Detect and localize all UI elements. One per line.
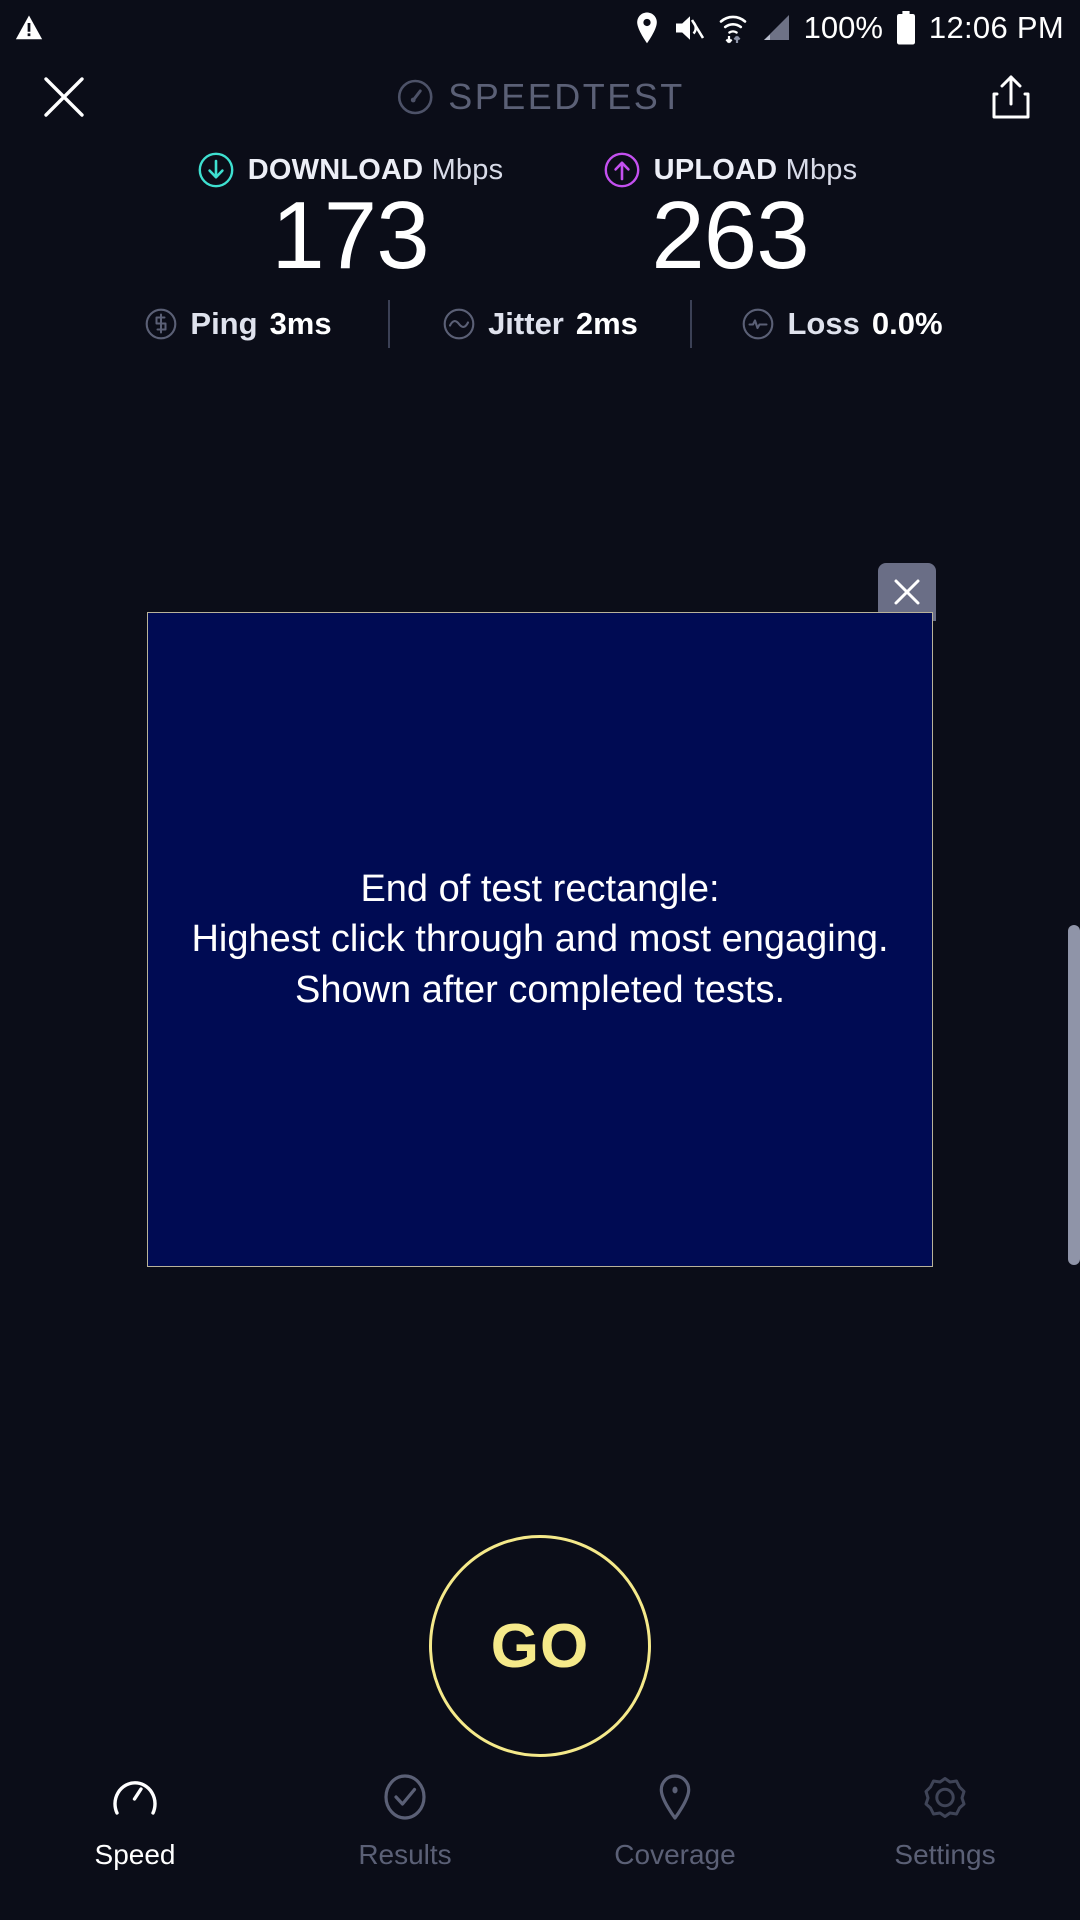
nav-item-settings[interactable]: Settings	[810, 1769, 1080, 1871]
go-button[interactable]: GO	[429, 1535, 651, 1757]
ad-rectangle[interactable]: End of test rectangle: Highest click thr…	[147, 612, 933, 1267]
loss-value: 0.0%	[872, 306, 943, 342]
brand-logo: SPEEDTEST	[395, 76, 685, 118]
speed-gauge-icon	[107, 1769, 163, 1825]
cell-signal-icon	[761, 14, 791, 42]
ad-text-line-3: Shown after completed tests.	[191, 965, 888, 1015]
jitter-label: Jitter	[488, 306, 564, 342]
upload-arrow-icon	[603, 151, 641, 189]
nav-item-results[interactable]: Results	[270, 1769, 540, 1871]
ping-label: Ping	[190, 306, 257, 342]
status-bar-right: 100% 12:06 PM	[634, 10, 1064, 46]
speedtest-app-screen: 100% 12:06 PM SP	[0, 0, 1080, 1920]
ping-value: 3ms	[270, 306, 332, 342]
status-bar-left	[14, 13, 44, 43]
nav-item-coverage[interactable]: Coverage	[540, 1769, 810, 1871]
upload-metric: UPLOAD Mbps 263	[540, 151, 920, 285]
loss-metric: Loss 0.0%	[692, 306, 992, 342]
settings-gear-icon	[917, 1769, 973, 1825]
share-button[interactable]	[982, 68, 1040, 126]
nav-item-speed[interactable]: Speed	[0, 1769, 270, 1871]
location-pin-icon	[634, 12, 660, 44]
app-header: SPEEDTEST	[0, 56, 1080, 138]
ping-jitter-loss-row: Ping 3ms Jitter 2ms Loss 0.0	[0, 300, 1080, 348]
ad-text-line-1: End of test rectangle:	[191, 864, 888, 914]
download-value: 173	[271, 187, 428, 285]
download-unit: Mbps	[432, 154, 504, 186]
speedtest-gauge-icon	[395, 77, 435, 117]
coverage-pin-icon	[647, 1769, 703, 1825]
upload-value: 263	[651, 187, 808, 285]
download-metric: DOWNLOAD Mbps 173	[160, 151, 540, 285]
battery-percent-label: 100%	[804, 10, 883, 46]
results-summary: DOWNLOAD Mbps 173 UP	[0, 138, 1080, 285]
scrollbar-thumb[interactable]	[1068, 925, 1080, 1265]
close-button[interactable]	[34, 67, 94, 127]
wifi-transfer-icon	[718, 12, 748, 44]
status-bar-clock: 12:06 PM	[929, 10, 1064, 46]
loss-label: Loss	[787, 306, 859, 342]
ping-icon	[144, 307, 178, 341]
nav-label-settings: Settings	[894, 1839, 995, 1871]
jitter-value: 2ms	[576, 306, 638, 342]
upload-unit: Mbps	[786, 154, 858, 186]
ad-text: End of test rectangle: Highest click thr…	[177, 864, 902, 1014]
battery-full-icon	[896, 11, 916, 45]
bottom-navigation: Speed Results Coverage	[0, 1757, 1080, 1920]
nav-label-speed: Speed	[95, 1839, 176, 1871]
nav-label-coverage: Coverage	[614, 1839, 735, 1871]
brand-title: SPEEDTEST	[448, 76, 685, 118]
volume-mute-icon	[673, 13, 705, 43]
results-check-icon	[377, 1769, 433, 1825]
jitter-metric: Jitter 2ms	[390, 306, 690, 342]
download-upload-row: DOWNLOAD Mbps 173 UP	[0, 138, 1080, 285]
nav-label-results: Results	[358, 1839, 451, 1871]
jitter-wave-icon	[442, 307, 476, 341]
warning-triangle-icon	[14, 13, 44, 43]
status-bar: 100% 12:06 PM	[0, 0, 1080, 56]
go-button-label: GO	[491, 1611, 589, 1682]
loss-icon	[741, 307, 775, 341]
ping-metric: Ping 3ms	[88, 306, 388, 342]
ad-text-line-2: Highest click through and most engaging.	[191, 914, 888, 964]
download-arrow-icon	[197, 151, 235, 189]
